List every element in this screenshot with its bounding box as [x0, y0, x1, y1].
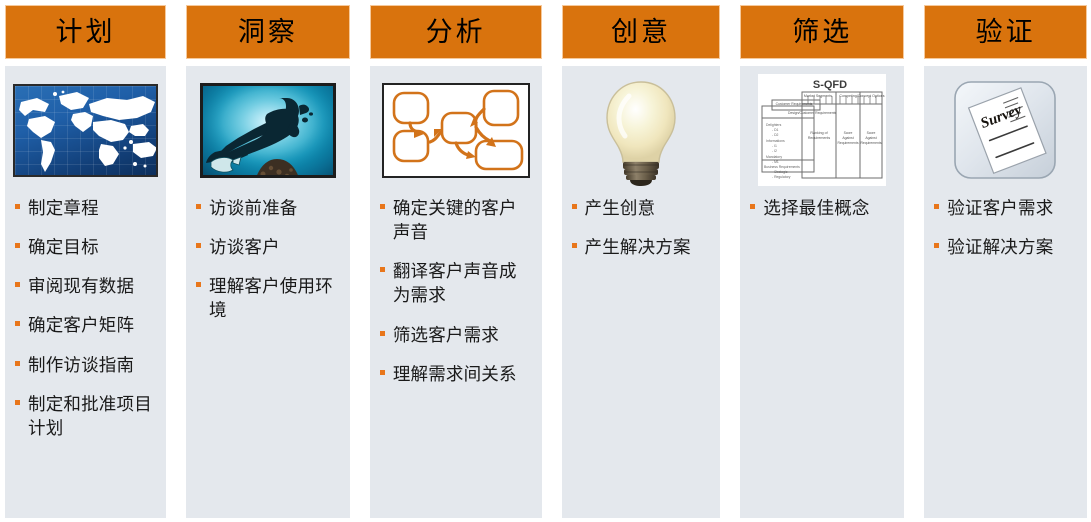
phase-body-verify: Survey 验证客户需求 [924, 66, 1087, 518]
column-gap [720, 5, 740, 6]
qfd-label-score2b: Against [866, 136, 877, 140]
phase-column-insight: 洞察 [186, 5, 350, 518]
bullet-list-analysis: 确定关键的客户声音 翻译客户声音成为需求 筛选客户需求 理解需求间关系 [378, 196, 534, 510]
column-gap [542, 5, 562, 6]
phase-column-verify: 验证 [924, 5, 1087, 518]
phase-column-screen: 筛选 S-QFD [740, 5, 904, 518]
qfd-label-informations: Informations [766, 139, 785, 143]
phase-header-verify[interactable]: 验证 [924, 5, 1087, 59]
list-item: 制定章程 [15, 196, 158, 220]
bullet-list-insight: 访谈前准备 访谈客户 理解客户使用环境 [194, 196, 342, 510]
network-nodes-icon [384, 85, 530, 178]
thumbnail-wrap-verify: Survey [932, 76, 1079, 184]
bullet-list-plan: 制定章程 确定目标 审阅现有数据 确定客户矩阵 制作访谈指南 制定和批准项目计划 [13, 196, 158, 510]
bullet-list-idea: 产生创意 产生解决方案 [570, 196, 713, 510]
lightbulb-icon [589, 74, 693, 186]
thumbnail-wrap-analysis [378, 76, 534, 184]
qfd-label-market-segments: Market Segments [804, 94, 832, 98]
bullet-list-verify: 验证客户需求 验证解决方案 [932, 196, 1079, 510]
thumbnail-wrap-insight [194, 76, 342, 184]
list-item: 审阅现有数据 [15, 274, 158, 298]
qfd-label-i1: - I1 [772, 144, 777, 148]
qfd-label-customer-requirements-top: Customer Requirements [776, 102, 813, 106]
phase-header-idea[interactable]: 创意 [562, 5, 721, 59]
bullet-list-screen: 选择最佳概念 [748, 196, 896, 510]
qfd-label-score1: Score [844, 131, 853, 135]
phase-body-analysis: 确定关键的客户声音 翻译客户声音成为需求 筛选客户需求 理解需求间关系 [370, 66, 542, 518]
list-item: 确定客户矩阵 [15, 313, 158, 337]
thumbnail-wrap-screen: S-QFD [748, 76, 896, 184]
phase-column-idea: 创意 [562, 5, 721, 518]
qfd-matrix-icon: S-QFD [758, 74, 886, 186]
column-gap [166, 5, 186, 6]
qfd-label-mandatory: Mandatory [766, 155, 782, 159]
phase-header-screen[interactable]: 筛选 [740, 5, 904, 59]
list-item: 理解客户使用环境 [196, 274, 342, 322]
qfd-label-ranking2: Requirements [808, 136, 831, 140]
process-phase-board: 计划 [0, 0, 1091, 522]
list-item: 理解需求间关系 [380, 362, 534, 386]
column-gap [904, 5, 924, 6]
world-map-continents-icon [15, 86, 158, 177]
phase-column-plan: 计划 [5, 5, 166, 518]
list-item: 验证客户需求 [934, 196, 1079, 220]
phase-header-plan[interactable]: 计划 [5, 5, 166, 59]
qfd-label-regulatory: - Regulatory [772, 175, 791, 179]
list-item: 产生解决方案 [572, 235, 713, 259]
thumbnail-wrap-idea [570, 76, 713, 184]
world-map-image [13, 84, 158, 177]
s-qfd-matrix-image: S-QFD [758, 74, 886, 186]
qfd-label-ranking: Ranking of [811, 131, 828, 135]
scuba-diver-image [200, 83, 336, 178]
list-item: 访谈前准备 [196, 196, 342, 220]
qfd-label-d2: - D2 [772, 133, 779, 137]
column-gap [350, 5, 370, 6]
phase-header-insight[interactable]: 洞察 [186, 5, 350, 59]
list-item: 产生创意 [572, 196, 713, 220]
phase-body-screen: S-QFD [740, 66, 904, 518]
qfd-label-concept-options: Competing/Concept Options [840, 94, 885, 98]
qfd-label-d1: - D1 [772, 128, 779, 132]
qfd-label-score2: Score [867, 131, 876, 135]
qfd-label-m1: - M1 [772, 160, 779, 164]
list-item: 制作访谈指南 [15, 353, 158, 377]
list-item: 确定关键的客户声音 [380, 196, 534, 244]
affinity-network-diagram-image [382, 83, 530, 178]
qfd-title: S-QFD [813, 79, 847, 91]
lightbulb-image [589, 74, 693, 186]
phase-body-plan: 制定章程 确定目标 审阅现有数据 确定客户矩阵 制作访谈指南 制定和批准项目计划 [5, 66, 166, 518]
thumbnail-wrap-plan [13, 76, 158, 184]
qfd-label-score1b: Against [843, 136, 854, 140]
qfd-label-strategic: - Strategic [772, 170, 788, 174]
list-item: 制定和批准项目计划 [15, 392, 158, 440]
qfd-label-delighters: Delighters [766, 123, 782, 127]
phase-body-idea: 产生创意 产生解决方案 [562, 66, 721, 518]
qfd-label-i2: - I2 [772, 149, 777, 153]
qfd-label-score2c: Requirements [861, 141, 882, 145]
qfd-label-business-req: Business Requirements [764, 165, 800, 169]
phase-column-analysis: 分析 [370, 5, 542, 518]
survey-document-image: Survey [951, 76, 1061, 184]
list-item: 确定目标 [15, 235, 158, 259]
qfd-label-design-customer-req: Design/Customer Requirements [788, 111, 837, 115]
list-item: 翻译客户声音成为需求 [380, 259, 534, 307]
list-item: 筛选客户需求 [380, 323, 534, 347]
list-item: 验证解决方案 [934, 235, 1079, 259]
phase-header-analysis[interactable]: 分析 [370, 5, 542, 59]
list-item: 访谈客户 [196, 235, 342, 259]
qfd-label-score1c: Requirements [838, 141, 859, 145]
phase-body-insight: 访谈前准备 访谈客户 理解客户使用环境 [186, 66, 350, 518]
survey-document-icon: Survey [951, 76, 1061, 184]
list-item: 选择最佳概念 [750, 196, 896, 220]
diver-silhouette-icon [203, 86, 336, 178]
